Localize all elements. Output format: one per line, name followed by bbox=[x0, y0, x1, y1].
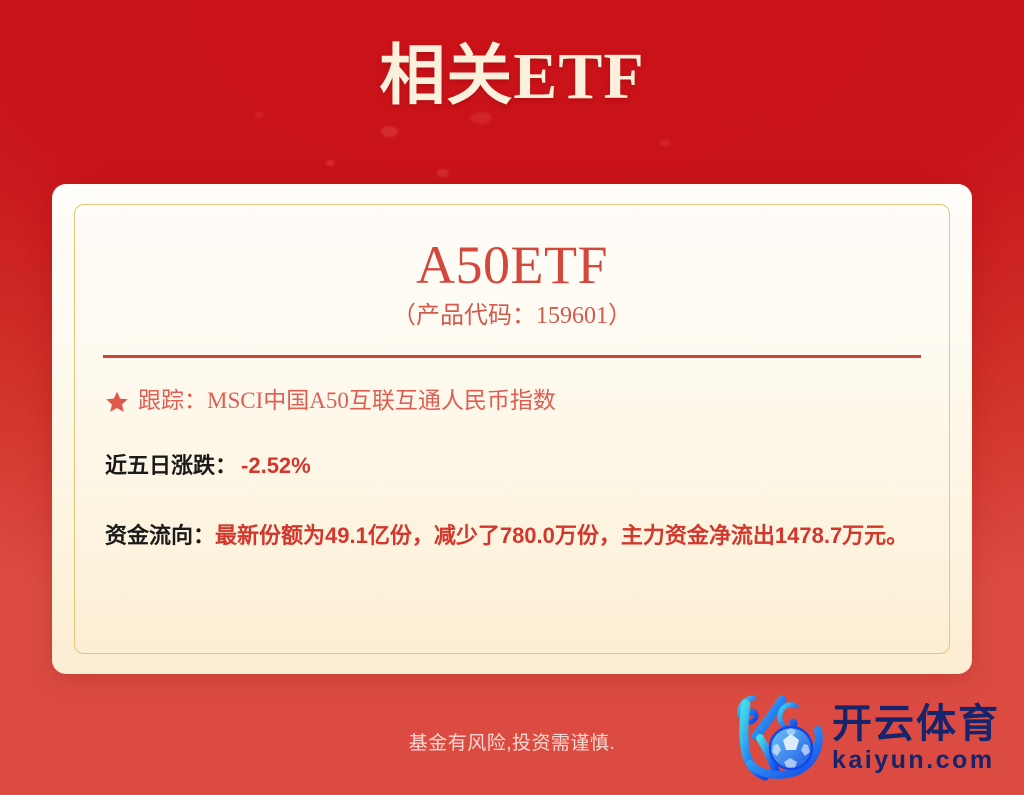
etf-card-inner-border: A50ETF （产品代码：159601） 跟踪：MSCI中国A50互联互通人民币… bbox=[74, 204, 950, 654]
etf-card: A50ETF （产品代码：159601） 跟踪：MSCI中国A50互联互通人民币… bbox=[52, 184, 972, 674]
kaiyun-logo-icon bbox=[724, 690, 826, 786]
decorative-dot bbox=[326, 160, 335, 166]
decorative-dot bbox=[660, 140, 670, 147]
tracking-index-text: 跟踪：MSCI中国A50互联互通人民币指数 bbox=[138, 386, 556, 416]
tracking-row: 跟踪：MSCI中国A50互联互通人民币指数 bbox=[105, 386, 919, 416]
fund-flow-label: 资金流向： bbox=[105, 516, 215, 556]
five-day-change-label: 近五日涨跌： bbox=[105, 450, 237, 482]
star-icon bbox=[105, 390, 129, 414]
brand-logo: 开云体育 kaiyun.com bbox=[724, 690, 1000, 786]
five-day-change-row: 近五日涨跌： -2.52% bbox=[105, 450, 919, 482]
etf-detail-rows: 跟踪：MSCI中国A50互联互通人民币指数 近五日涨跌： -2.52% 资金流向… bbox=[75, 358, 949, 556]
decorative-dot bbox=[437, 169, 449, 177]
brand-name-cn: 开云体育 bbox=[832, 702, 1000, 746]
etf-name: A50ETF bbox=[75, 235, 949, 295]
decorative-dot bbox=[381, 126, 398, 137]
fund-flow-value: 最新份额为49.1亿份，减少了780.0万份，主力资金净流出1478.7万元。 bbox=[215, 516, 908, 556]
brand-text: 开云体育 kaiyun.com bbox=[832, 702, 1000, 774]
fund-flow-row: 资金流向： 最新份额为49.1亿份，减少了780.0万份，主力资金净流出1478… bbox=[105, 516, 919, 556]
page-title: 相关ETF bbox=[0, 38, 1024, 116]
etf-product-code: （产品代码：159601） bbox=[75, 299, 949, 333]
five-day-change-value: -2.52% bbox=[241, 450, 311, 482]
brand-name-en: kaiyun.com bbox=[832, 746, 1000, 774]
